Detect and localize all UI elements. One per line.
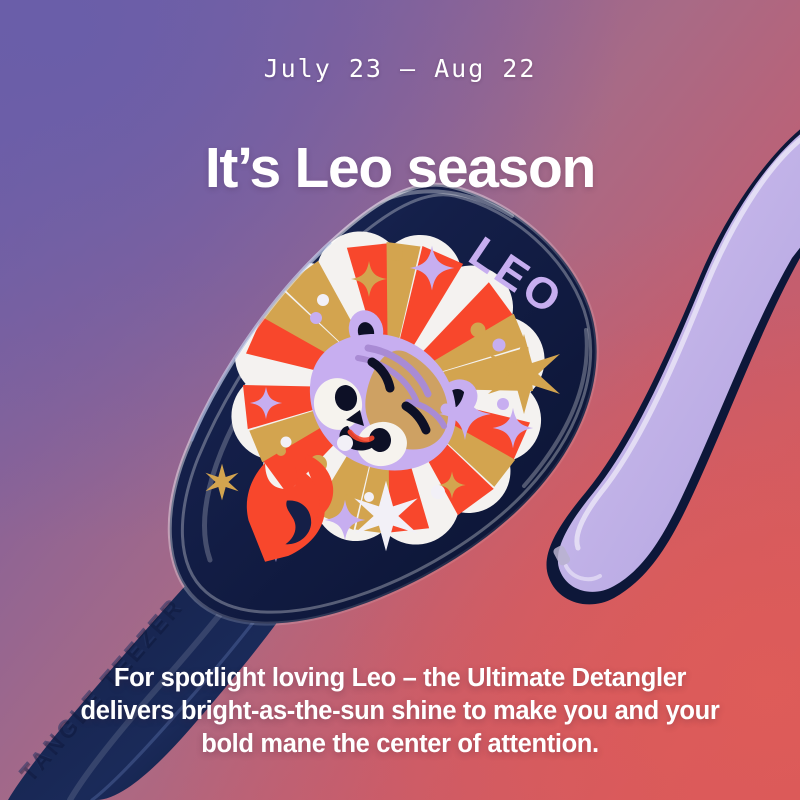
date-range-label: July 23 – Aug 22 xyxy=(0,54,800,83)
page-title: It’s Leo season xyxy=(0,139,800,198)
leo-season-promo-graphic: TANGLE TEEZER TANGLE TEEZER xyxy=(0,0,800,800)
main-brush-head: LEO xyxy=(170,185,597,624)
body-copy: For spotlight loving Leo – the Ultimate … xyxy=(70,662,730,761)
